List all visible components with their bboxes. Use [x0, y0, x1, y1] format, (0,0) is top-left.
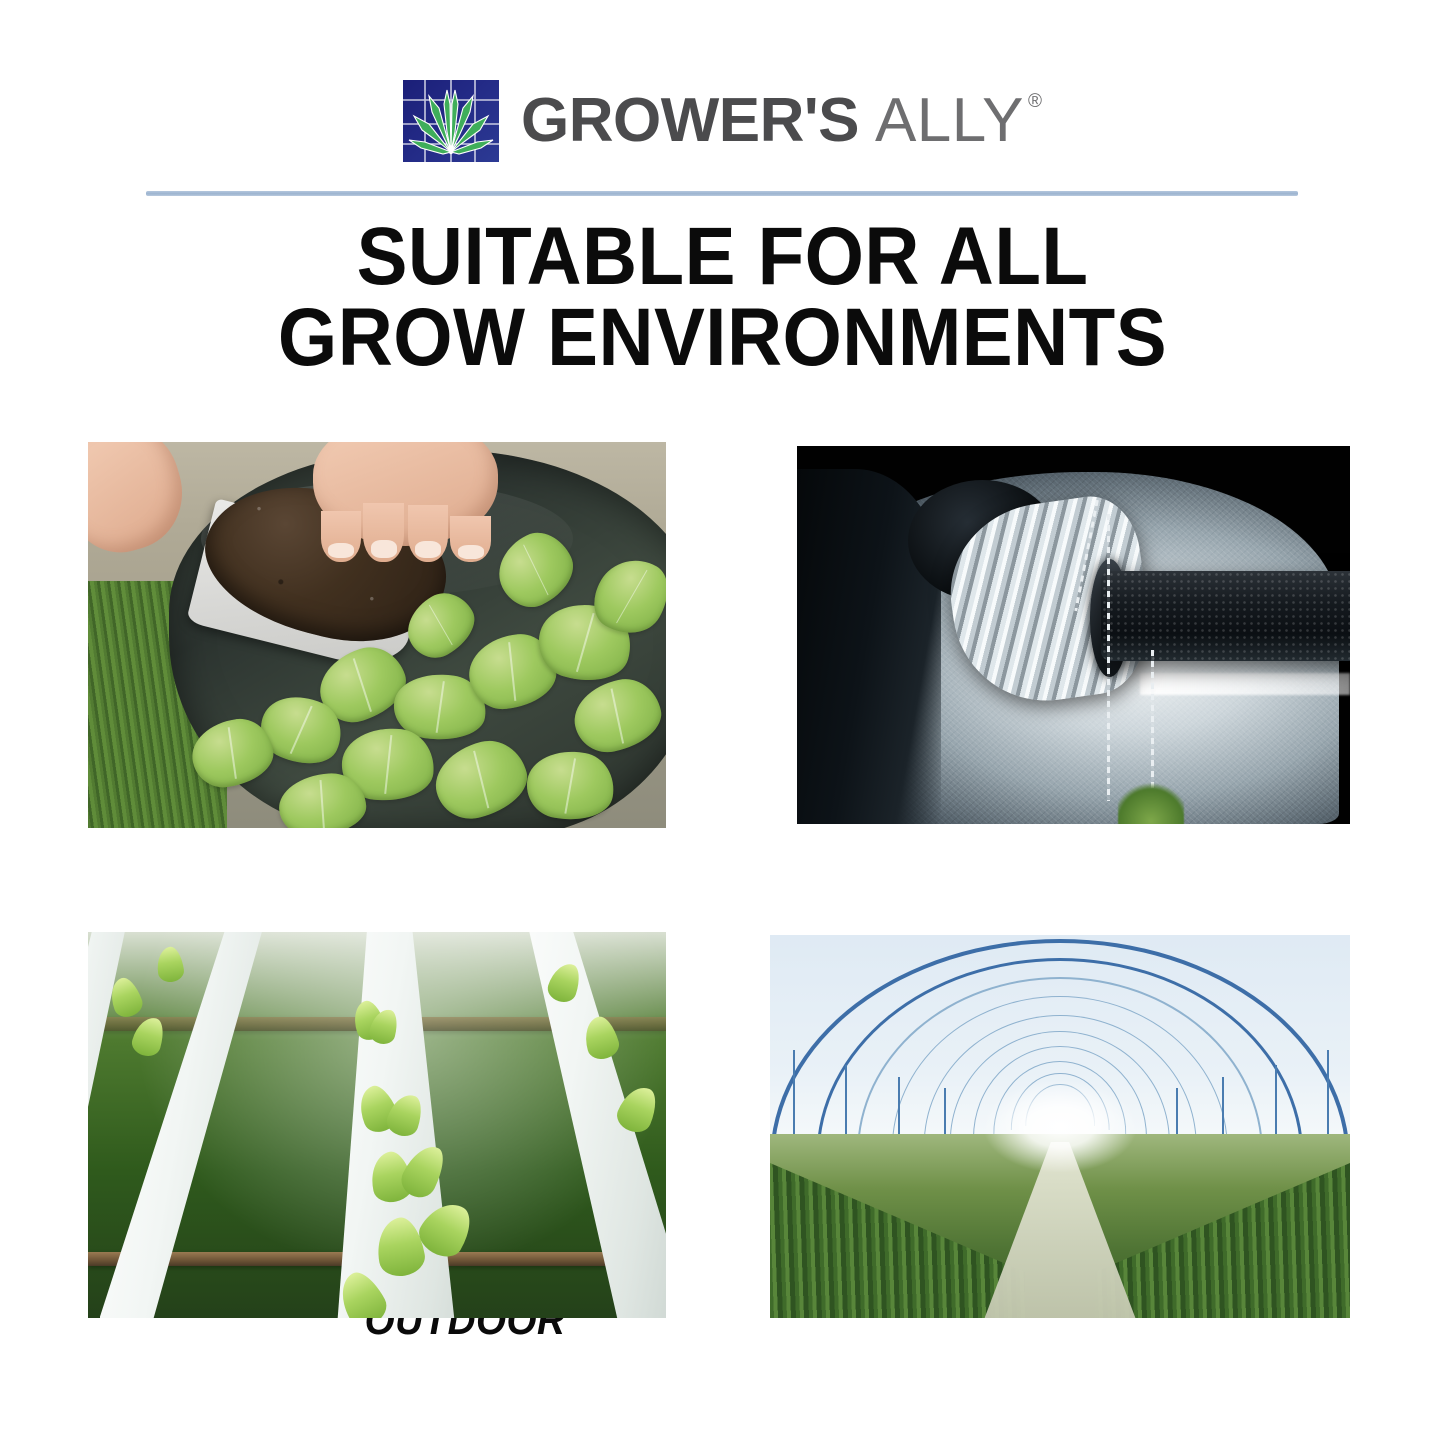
hand-right: [313, 442, 498, 546]
environment-card-outdoor[interactable]: OUTDOOR: [88, 442, 666, 828]
indoor-plant: [1118, 779, 1184, 824]
indoor-photo: [797, 446, 1350, 824]
registered-trademark-icon: ®: [1028, 92, 1042, 111]
page-title: SUITABLE FOR ALL GROW ENVIRONMENTS: [51, 216, 1395, 378]
page-title-line-1: SUITABLE FOR ALL: [51, 216, 1395, 297]
environment-card-indoor[interactable]: INDOOR: [797, 446, 1350, 824]
environment-card-hydroponic[interactable]: HYDROPONIC: [88, 932, 666, 1318]
brand-name-light: ALLY: [875, 90, 1024, 152]
page-title-line-2: GROW ENVIRONMENTS: [51, 297, 1395, 378]
sunlight-glow: [985, 1081, 1136, 1173]
hanging-chain-1: [1107, 514, 1110, 801]
brand-wordmark: GROWER'S ALLY ®: [521, 90, 1042, 152]
grow-light-strip: [1140, 673, 1350, 696]
brand-name-bold: GROWER'S: [521, 90, 859, 152]
brand-header: GROWER'S ALLY ®: [0, 80, 1445, 162]
poster-canvas: GROWER'S ALLY ® SUITABLE FOR ALL GROW EN…: [0, 0, 1445, 1445]
carbon-filter: [1101, 571, 1350, 662]
greenhouse-photo: [770, 935, 1350, 1318]
hydroponic-photo: [88, 932, 666, 1318]
environment-card-greenhouse[interactable]: GREENHOUSE: [770, 935, 1350, 1318]
outdoor-photo: [88, 442, 666, 828]
header-divider: [146, 191, 1298, 196]
growers-ally-logo-icon: [403, 80, 499, 162]
